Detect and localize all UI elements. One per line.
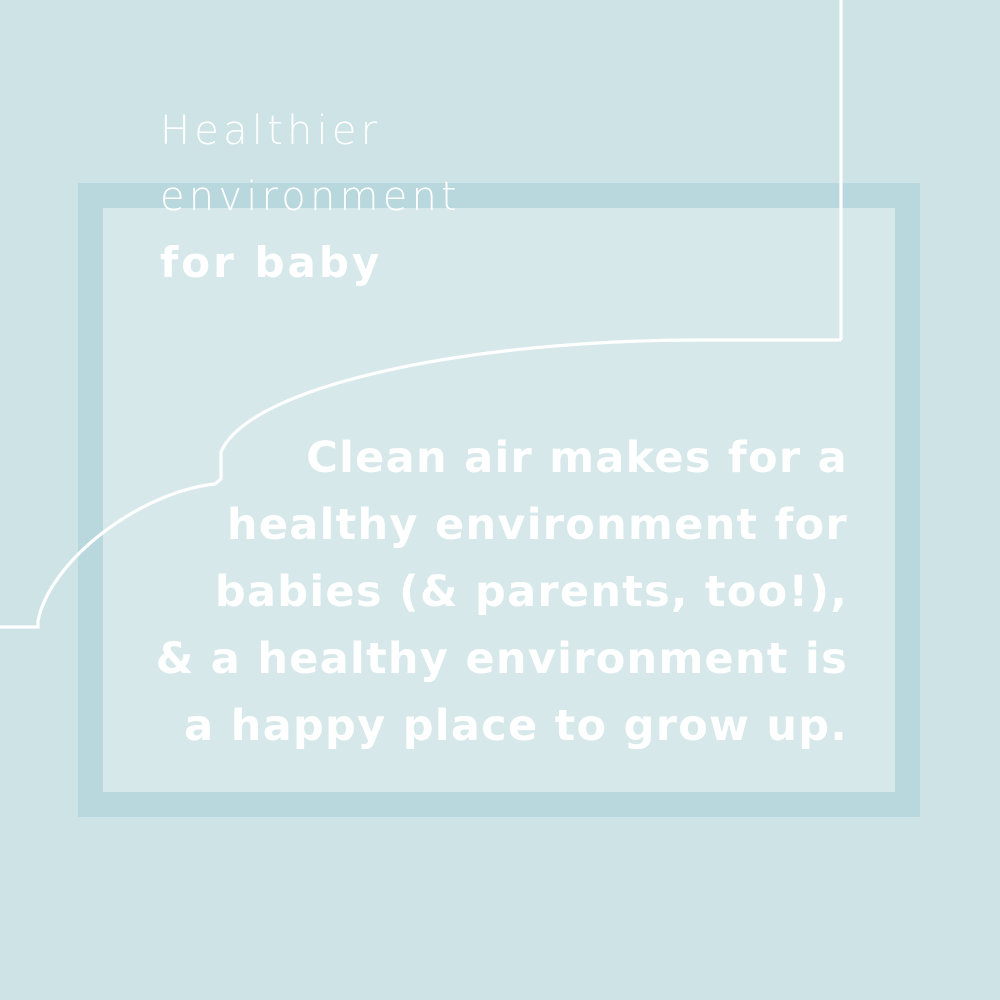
headline-block: Healthier environment for baby [160, 98, 860, 296]
body-copy-block: Clean air makes for a healthy environmen… [148, 425, 848, 760]
headline-line-3: for baby [160, 230, 860, 296]
headline-line-1: Healthier [160, 98, 860, 164]
body-line-5: a happy place to grow up. [148, 693, 848, 760]
body-line-1: Clean air makes for a [148, 425, 848, 492]
body-line-3: babies (& parents, too!), [148, 559, 848, 626]
poster-canvas: Healthier environment for baby Clean air… [0, 0, 1000, 1000]
body-line-4: & a healthy environment is [148, 626, 848, 693]
body-line-2: healthy environment for [148, 492, 848, 559]
headline-line-2: environment [160, 164, 860, 230]
